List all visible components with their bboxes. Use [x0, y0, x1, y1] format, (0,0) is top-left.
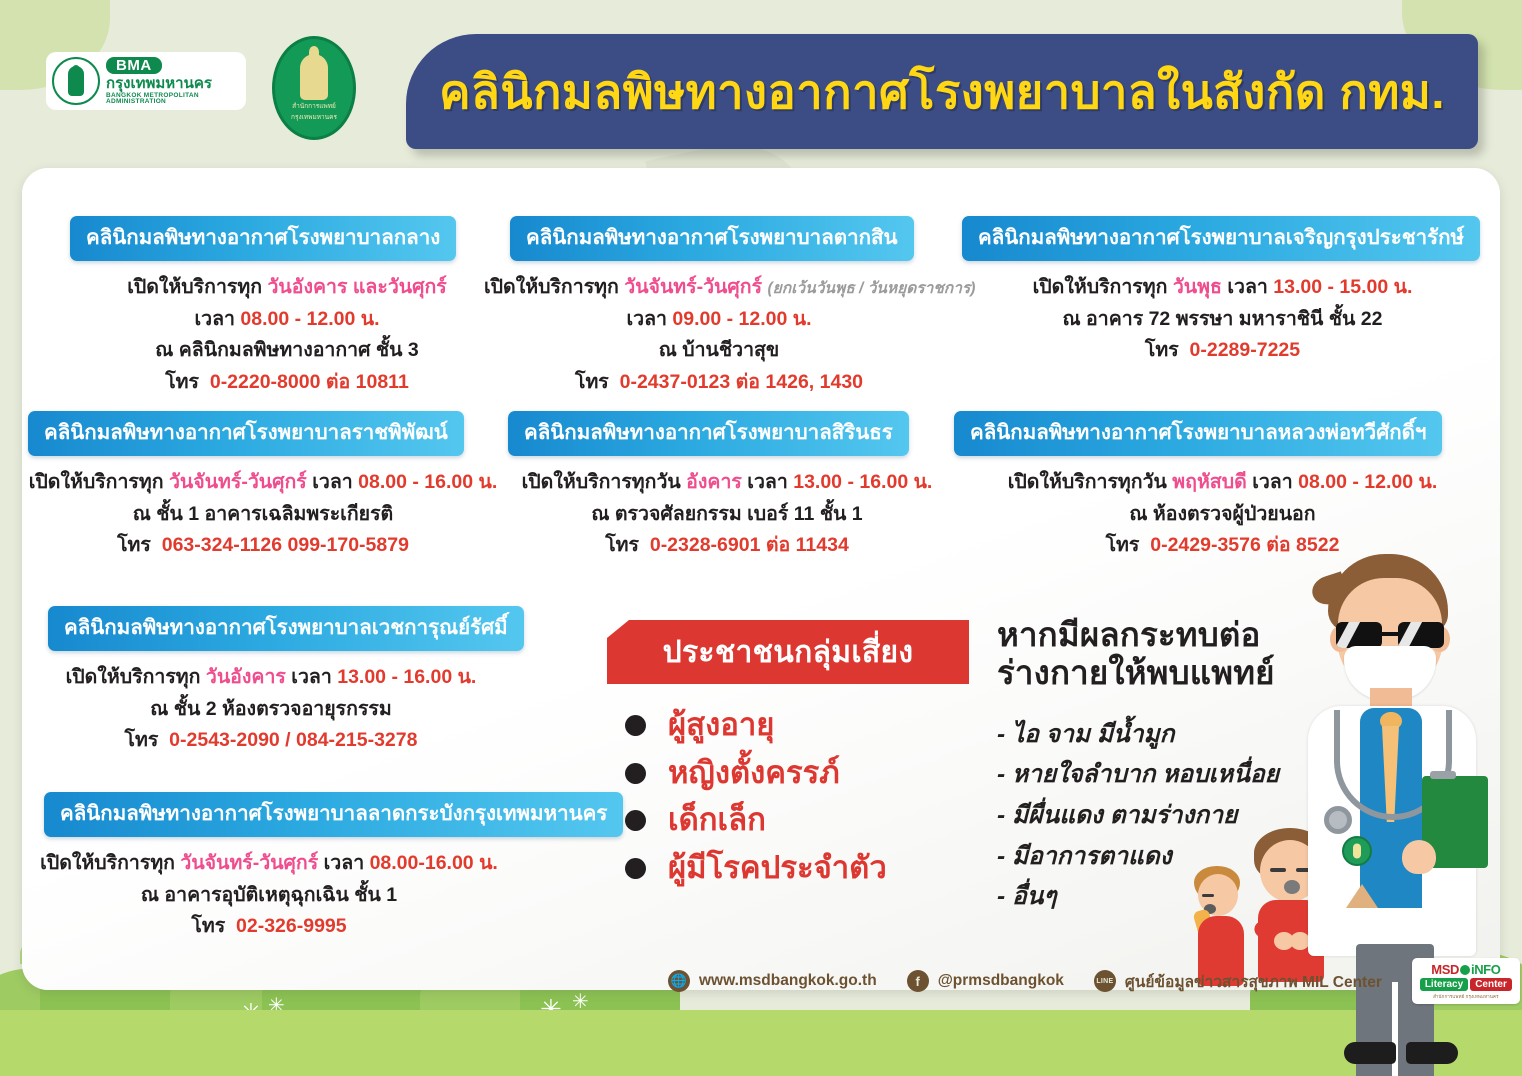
risk-item-label: หญิงตั้งครรภ์: [668, 756, 840, 791]
risk-group-title: ประชาชนกลุ่มเสี่ยง: [663, 629, 914, 676]
child-eye-left: [1270, 868, 1286, 872]
risk-item-label: เด็กเล็ก: [668, 803, 766, 838]
open-label: เปิดให้บริการทุก: [127, 276, 262, 298]
clinic-name: คลินิกมลพิษทางอากาศโรงพยาบาลตากสิน: [510, 216, 914, 261]
time-label: เวลา: [1252, 471, 1293, 493]
clinic-name: คลินิกมลพิษทางอากาศโรงพยาบาลหลวงพ่อทวีศั…: [954, 411, 1442, 456]
tel-label: โทร: [117, 534, 151, 556]
clinic-schedule-line: เปิดให้บริการทุก วันจันทร์-วันศุกร์ (ยกเ…: [484, 272, 954, 304]
clinic-location: ณ ชั้น 1 อาคารเฉลิมพระเกียรติ: [28, 499, 498, 531]
clinic-schedule-line: เปิดให้บริการทุก วันจันทร์-วันศุกร์ เวลา…: [28, 467, 498, 499]
time-label: เวลา: [747, 471, 788, 493]
clinic-location: ณ อาคารอุบัติเหตุฉุกเฉิน ชั้น 1: [34, 880, 504, 912]
footer-line-label: ศูนย์ข้อมูลข่าวสารสุขภาพ MIL Center: [1125, 969, 1382, 994]
clinic-time: 08.00 - 12.00: [1298, 471, 1413, 493]
clinic-tel[interactable]: 063-324-1126 099-170-5879: [162, 534, 409, 556]
hour-suffix: น.: [914, 471, 933, 493]
footer-website-label: www.msdbangkok.go.th: [699, 972, 877, 990]
bullet-icon: [625, 715, 646, 736]
mil-logo-dot-icon: [1460, 965, 1470, 975]
hour-suffix: น.: [458, 666, 477, 688]
risk-group-list: ผู้สูงอายุ หญิงตั้งครรภ์ เด็กเล็ก ผู้มีโ…: [607, 708, 977, 886]
clinic-location: ณ อาคาร 72 พรรษา มหาราชินี ชั้น 22: [940, 304, 1500, 336]
msd-logo-line2: กรุงเทพมหานคร: [291, 114, 337, 122]
risk-list-item: เด็กเล็ก: [625, 803, 977, 838]
clinic-name: คลินิกมลพิษทางอากาศโรงพยาบาลเจริญกรุงประ…: [962, 216, 1480, 261]
clinic-time: 08.00 - 16.00: [358, 471, 473, 493]
bma-logo-english: BANGKOK METROPOLITAN ADMINISTRATION: [106, 93, 238, 106]
open-label: เปิดให้บริการทุก: [29, 471, 164, 493]
clinic-schedule-line: เปิดให้บริการทุก วันจันทร์-วันศุกร์ เวลา…: [34, 848, 504, 880]
doctor-shoe-left: [1344, 1042, 1396, 1064]
time-label: เวลา: [291, 666, 332, 688]
tel-label: โทร: [1145, 339, 1179, 361]
clinic-tel-line: โทร 0-2289-7225: [940, 335, 1500, 367]
clinic-day: วันจันทร์-วันศุกร์: [169, 471, 307, 493]
risk-list-item: ผู้มีโรคประจำตัว: [625, 851, 977, 886]
clinic-schedule-line: เปิดให้บริการทุก วันอังคาร และวันศุกร์: [52, 272, 522, 304]
clinic-name: คลินิกมลพิษทางอากาศโรงพยาบาลราชพิพัฒน์: [28, 411, 464, 456]
risk-group-panel: ประชาชนกลุ่มเสี่ยง ผู้สูงอายุ หญิงตั้งคร…: [607, 620, 977, 965]
clinic-tel[interactable]: 0-2437-0123 ต่อ 1426, 1430: [620, 371, 863, 393]
clinic-tel-line: โทร 0-2220-8000 ต่อ 10811: [52, 367, 522, 399]
bullet-icon: [625, 810, 646, 831]
clinic-card-klang: คลินิกมลพิษทางอากาศโรงพยาบาลกลาง เปิดให้…: [52, 216, 522, 398]
clinic-day: อังคาร: [686, 471, 742, 493]
footer-website[interactable]: 🌐 www.msdbangkok.go.th: [668, 970, 877, 992]
clinic-time-line: เวลา 09.00 - 12.00 น.: [484, 304, 954, 336]
clinic-tel-line: โทร 02-326-9995: [34, 911, 504, 943]
open-label: เปิดให้บริการทุก: [40, 852, 175, 874]
clinic-card-luangphothawisak: คลินิกมลพิษทางอากาศโรงพยาบาลหลวงพ่อทวีศั…: [940, 411, 1500, 562]
time-label: เวลา: [1227, 276, 1268, 298]
open-label: เปิดให้บริการทุกวัน: [522, 471, 681, 493]
hour-suffix: น.: [479, 852, 498, 874]
mil-logo-mid: Literacy Center: [1420, 978, 1512, 991]
sunglasses-lens-left: [1336, 622, 1382, 648]
clinic-tel[interactable]: 0-2543-2090 / 084-215-3278: [169, 729, 417, 751]
open-label: เปิดให้บริการทุก: [484, 276, 619, 298]
clinic-time: 13.00 - 16.00: [793, 471, 908, 493]
time-label: เวลา: [312, 471, 353, 493]
page-title: คลินิกมลพิษทางอากาศโรงพยาบาลในสังกัด กทม…: [439, 54, 1445, 129]
bullet-icon: [625, 858, 646, 879]
tel-label: โทร: [575, 371, 609, 393]
mil-logo-sub: สำนักการแพทย์ กรุงเทพมหานคร: [1433, 993, 1499, 1000]
clinic-tel-line: โทร 0-2328-6901 ต่อ 11434: [492, 530, 962, 562]
clinic-card-charoenkrung: คลินิกมลพิษทางอากาศโรงพยาบาลเจริญกรุงประ…: [940, 216, 1500, 367]
clinic-tel[interactable]: 0-2220-8000 ต่อ 10811: [210, 371, 409, 393]
clinic-location: ณ ชั้น 2 ห้องตรวจอายุรกรรม: [36, 694, 506, 726]
clinic-card-sirindhorn: คลินิกมลพิษทางอากาศโรงพยาบาลสิรินธร เปิด…: [492, 411, 962, 562]
line-icon: LINE: [1094, 970, 1116, 992]
mil-logo-info: iNFO: [1471, 962, 1500, 977]
clinic-day: วันจันทร์-วันศุกร์: [624, 276, 762, 298]
background-grass: [0, 1010, 1522, 1076]
time-label: เวลา: [194, 308, 235, 330]
clinic-day: วันพุธ: [1173, 276, 1222, 298]
msd-logo: สำนักการแพทย์ กรุงเทพมหานคร: [272, 36, 356, 140]
risk-list-item: ผู้สูงอายุ: [625, 708, 977, 743]
tel-label: โทร: [1106, 534, 1140, 556]
footer-bar: 🌐 www.msdbangkok.go.th f @prmsdbangkok L…: [0, 958, 1522, 1004]
facebook-icon: f: [907, 970, 929, 992]
footer-line[interactable]: LINE ศูนย์ข้อมูลข่าวสารสุขภาพ MIL Center: [1094, 969, 1382, 994]
time-label: เวลา: [626, 308, 667, 330]
mil-logo-top: MSDiNFO: [1431, 962, 1500, 977]
open-label: เปิดให้บริการทุก: [66, 666, 201, 688]
risk-item-label: ผู้มีโรคประจำตัว: [668, 851, 887, 886]
clinic-schedule-line: เปิดให้บริการทุกวัน อังคาร เวลา 13.00 - …: [492, 467, 962, 499]
clinic-tel-line: โทร 0-2437-0123 ต่อ 1426, 1430: [484, 367, 954, 399]
clinic-schedule-line: เปิดให้บริการทุกวัน พฤหัสบดี เวลา 08.00 …: [940, 467, 1500, 499]
sunglasses-bridge: [1382, 632, 1398, 636]
bma-logo-abbr: BMA: [106, 57, 162, 74]
clinic-time-line: เวลา 08.00 - 12.00 น.: [52, 304, 522, 336]
clinic-card-taksin: คลินิกมลพิษทางอากาศโรงพยาบาลตากสิน เปิดใ…: [484, 216, 954, 398]
clinic-schedule-line: เปิดให้บริการทุก วันพุธ เวลา 13.00 - 15.…: [940, 272, 1500, 304]
tel-label: โทร: [605, 534, 639, 556]
doctor-pocket-triangle: [1346, 884, 1378, 908]
page-header: BMA กรุงเทพมหานคร BANGKOK METROPOLITAN A…: [0, 0, 1522, 172]
open-label: เปิดให้บริการทุกวัน: [1008, 471, 1167, 493]
doctor-shoe-right: [1406, 1042, 1458, 1064]
clinic-schedule-line: เปิดให้บริการทุก วันอังคาร เวลา 13.00 - …: [36, 662, 506, 694]
tel-label: โทร: [125, 729, 159, 751]
tel-label: โทร: [165, 371, 199, 393]
clinic-time: 08.00 - 12.00: [240, 308, 355, 330]
risk-item-label: ผู้สูงอายุ: [668, 708, 774, 743]
clinic-tel[interactable]: 0-2328-6901 ต่อ 11434: [650, 534, 849, 556]
bma-logo: BMA กรุงเทพมหานคร BANGKOK METROPOLITAN A…: [46, 52, 246, 110]
clinic-time: 13.00 - 16.00: [337, 666, 452, 688]
mil-center-logo: MSDiNFO Literacy Center สำนักการแพทย์ กร…: [1412, 958, 1520, 1004]
clinic-location: ณ บ้านชีวาสุข: [484, 335, 954, 367]
clinic-day: พฤหัสบดี: [1172, 471, 1246, 493]
doctor-badge-icon: [1342, 836, 1372, 866]
child-eye: [1202, 894, 1214, 897]
open-label: เปิดให้บริการทุก: [1033, 276, 1168, 298]
clinic-name: คลินิกมลพิษทางอากาศโรงพยาบาลลาดกระบังกรุ…: [44, 792, 623, 837]
footer-facebook[interactable]: f @prmsdbangkok: [907, 970, 1064, 992]
clinic-day: วันอังคาร และวันศุกร์: [267, 276, 446, 298]
sunglasses-lens-right: [1398, 622, 1444, 648]
clinic-tel[interactable]: 0-2289-7225: [1190, 339, 1301, 361]
hour-suffix: น.: [1394, 276, 1413, 298]
clinic-day: วันอังคาร: [206, 666, 286, 688]
clinic-tel-line: โทร 063-324-1126 099-170-5879: [28, 530, 498, 562]
clinic-location: ณ ตรวจศัลยกรรม เบอร์ 11 ชั้น 1: [492, 499, 962, 531]
clinic-card-wetchakarunrat: คลินิกมลพิษทางอากาศโรงพยาบาลเวชการุณย์รั…: [36, 606, 524, 757]
mil-logo-center: Center: [1470, 978, 1512, 991]
mil-logo-literacy: Literacy: [1420, 978, 1468, 991]
hour-suffix: น.: [361, 308, 380, 330]
hour-suffix: น.: [1418, 471, 1437, 493]
clinic-name: คลินิกมลพิษทางอากาศโรงพยาบาลเวชการุณย์รั…: [48, 606, 524, 651]
clinic-name: คลินิกมลพิษทางอากาศโรงพยาบาลสิรินธร: [508, 411, 909, 456]
msd-seal-icon: [300, 54, 328, 100]
clinic-tel-line: โทร 0-2543-2090 / 084-215-3278: [36, 725, 506, 757]
stethoscope-bell-icon: [1324, 806, 1352, 834]
risk-group-banner: ประชาชนกลุ่มเสี่ยง: [607, 620, 969, 684]
clinic-tel[interactable]: 02-326-9995: [236, 915, 347, 937]
clinic-location: ณ คลินิกมลพิษทางอากาศ ชั้น 3: [52, 335, 522, 367]
clinic-time: 13.00 - 15.00: [1273, 276, 1388, 298]
clinic-day: วันจันทร์-วันศุกร์: [180, 852, 318, 874]
bma-seal-icon: [52, 57, 100, 105]
hour-suffix: น.: [793, 308, 812, 330]
risk-list-item: หญิงตั้งครรภ์: [625, 756, 977, 791]
clinic-time: 09.00 - 12.00: [672, 308, 787, 330]
footer-facebook-label: @prmsdbangkok: [938, 972, 1064, 990]
bullet-icon: [625, 763, 646, 784]
bma-logo-thai: กรุงเทพมหานคร: [106, 76, 238, 91]
doctor-hand: [1402, 840, 1436, 874]
title-banner: คลินิกมลพิษทางอากาศโรงพยาบาลในสังกัด กทม…: [406, 34, 1478, 149]
clinic-card-ratchaphiphat: คลินิกมลพิษทางอากาศโรงพยาบาลราชพิพัฒน์ เ…: [28, 411, 498, 562]
globe-icon: 🌐: [668, 970, 690, 992]
msd-logo-line1: สำนักการแพทย์: [292, 103, 336, 111]
time-label: เวลา: [324, 852, 365, 874]
tel-label: โทร: [191, 915, 225, 937]
clinic-time: 08.00-16.00: [370, 852, 474, 874]
mil-logo-brand: MSD: [1431, 962, 1459, 977]
clinic-card-latkrabang: คลินิกมลพิษทางอากาศโรงพยาบาลลาดกระบังกรุ…: [34, 792, 623, 943]
clinic-name: คลินิกมลพิษทางอากาศโรงพยาบาลกลาง: [70, 216, 456, 261]
clinic-location: ณ ห้องตรวจผู้ป่วยนอก: [940, 499, 1500, 531]
